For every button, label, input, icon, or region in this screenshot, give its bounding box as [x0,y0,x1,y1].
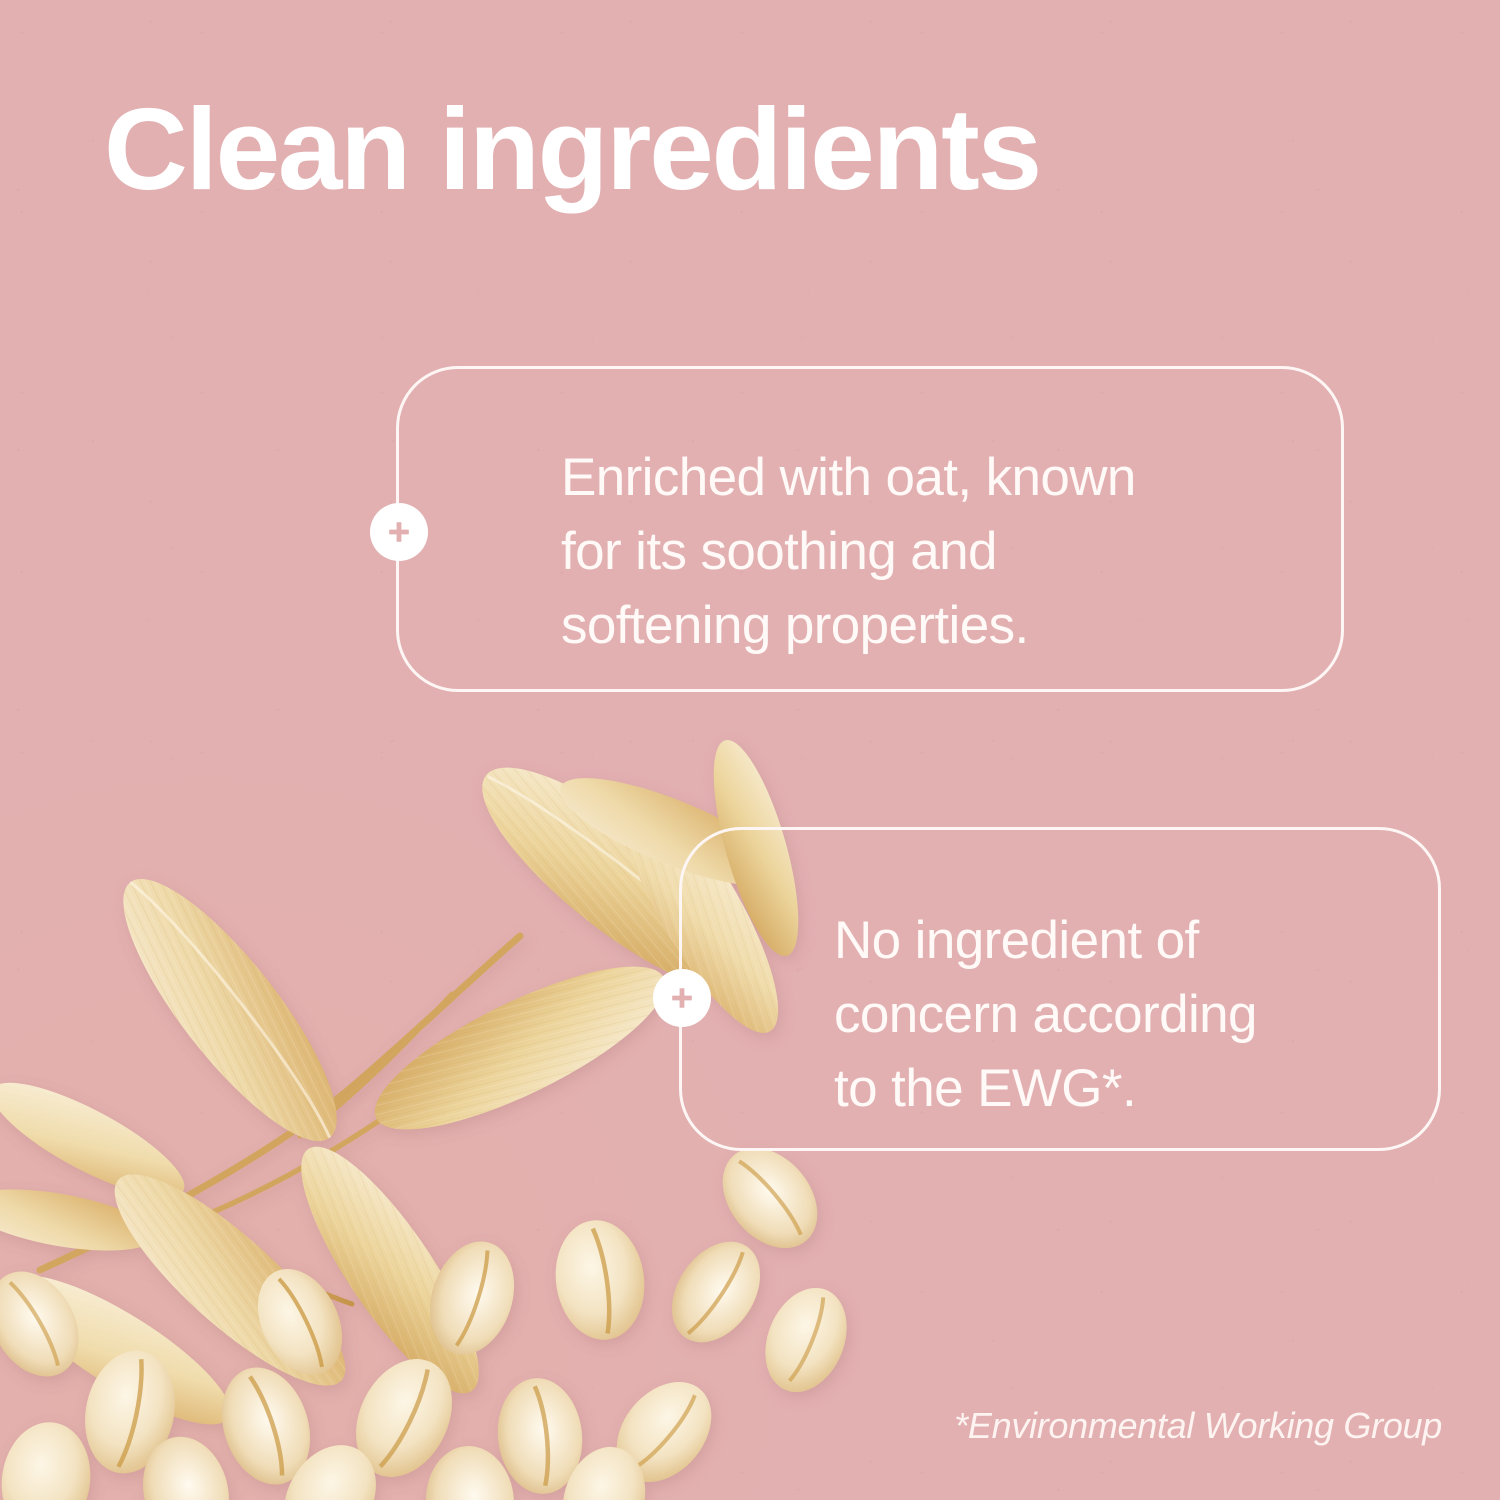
benefit-card-oat: Enriched with oat, known for its soothin… [396,366,1344,692]
background-grain-texture [0,0,1500,1500]
benefit-card-oat-text: Enriched with oat, known for its soothin… [561,441,1301,663]
benefit-card-ewg-text: No ingredient of concern according to th… [834,904,1414,1126]
benefit-card-ewg: No ingredient of concern according to th… [679,827,1441,1151]
plus-icon [653,969,711,1027]
footnote-ewg-definition: *Environmental Working Group [954,1404,1442,1448]
page-title: Clean ingredients [104,88,1040,211]
poster-canvas: Clean ingredients Enriched with oat, kno… [0,0,1500,1500]
plus-icon [370,503,428,561]
